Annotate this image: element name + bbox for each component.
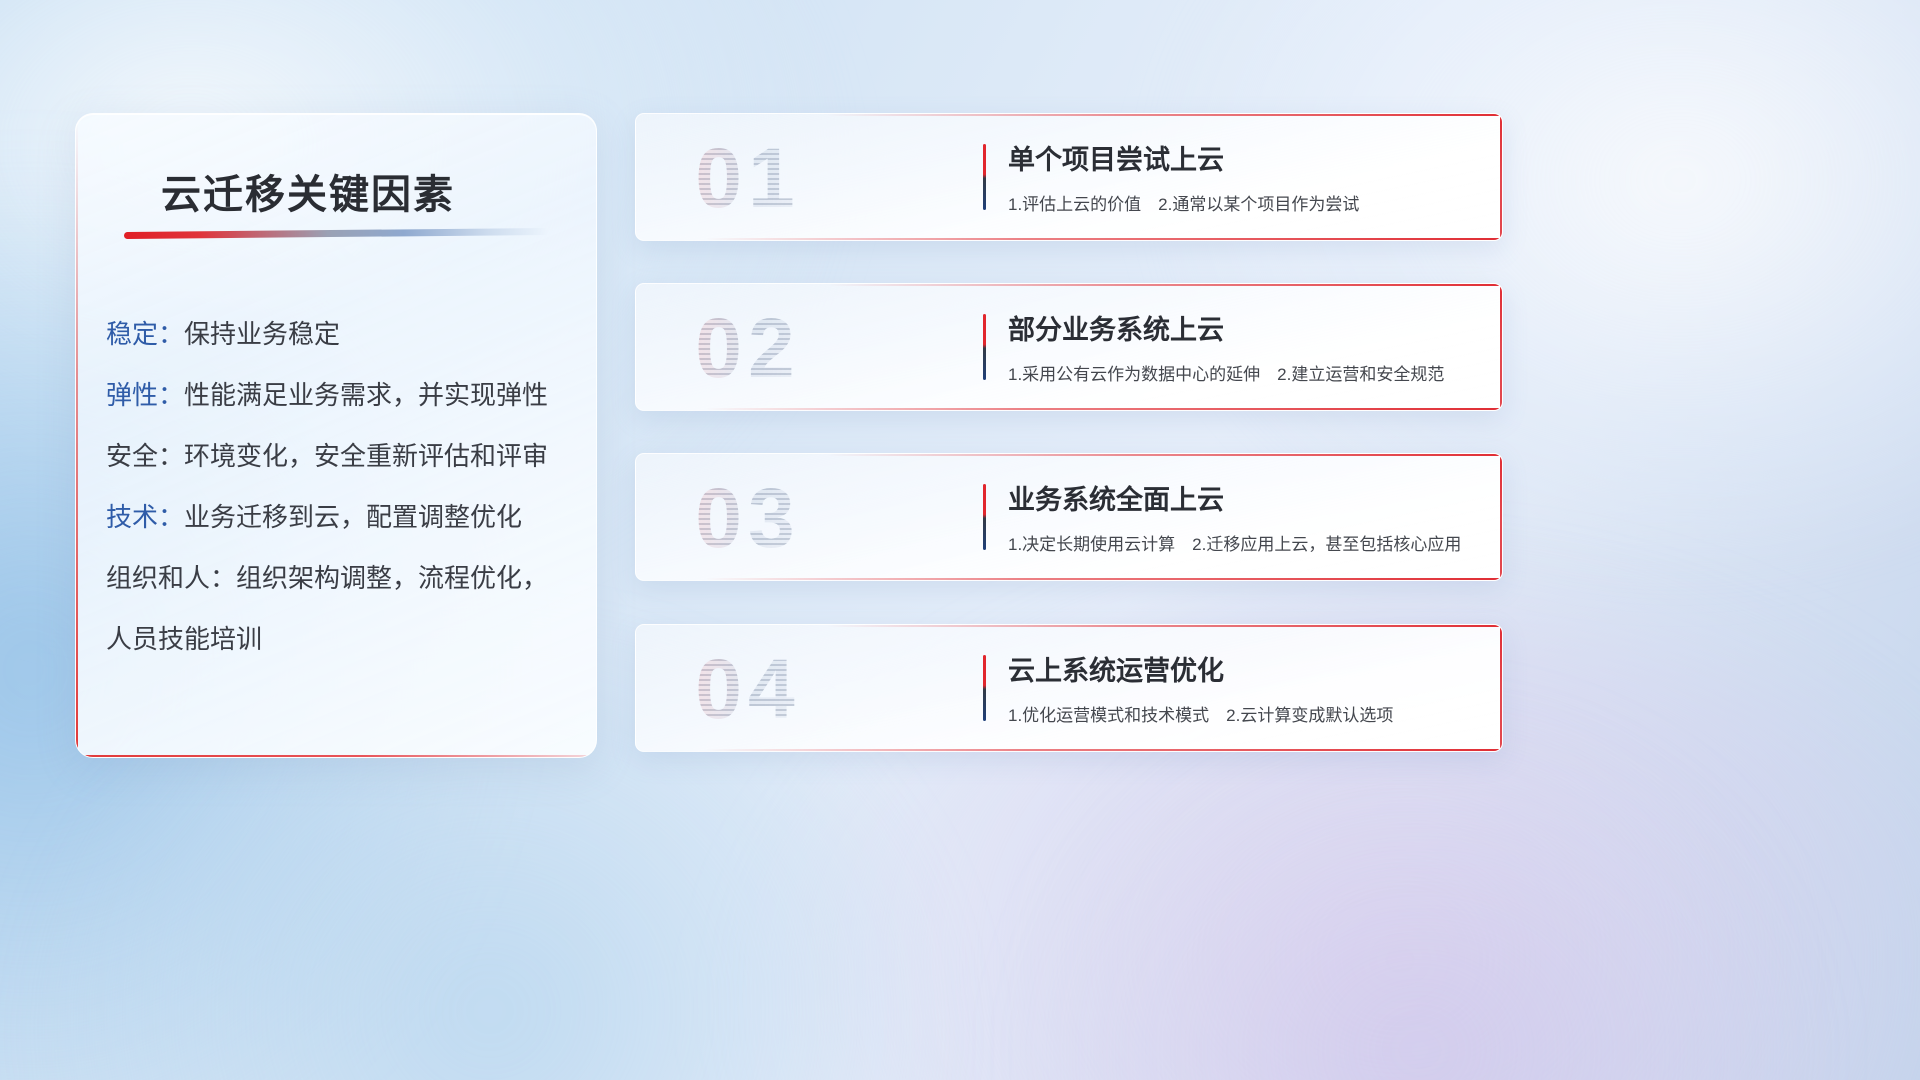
list-item: 稳定：保持业务稳定 (106, 304, 578, 365)
stage-card-04[interactable]: 04 04 云上系统运营优化 1.优化运营模式和技术模式 2.云计算变成默认选项 (635, 624, 1503, 752)
stage-divider-bar (983, 655, 986, 721)
list-item-key: 技术： (106, 502, 184, 532)
stage-divider-bar (983, 144, 986, 210)
stage-title: 云上系统运营优化 (1008, 649, 1224, 688)
list-item-key: 弹性： (106, 380, 184, 410)
card-edge-accent-bottom (705, 238, 1502, 240)
stage-number-watermark-tint: 02 (658, 298, 838, 398)
stage-title: 单个项目尝试上云 (1008, 138, 1224, 177)
list-item: 安全：环境变化，安全重新评估和评审 (106, 426, 578, 487)
card-edge-accent-top (827, 114, 1502, 116)
stage-card-01[interactable]: 01 01 单个项目尝试上云 1.评估上云的价值 2.通常以某个项目作为尝试 (635, 113, 1503, 241)
stage-number-watermark-tint: 03 (658, 468, 838, 568)
list-item-text: 保持业务稳定 (184, 319, 340, 349)
card-edge-accent-right (1500, 625, 1502, 751)
list-item: 弹性：性能满足业务需求，并实现弹性 (106, 365, 578, 426)
key-factors-panel: 云迁移关键因素 稳定：保持业务稳定 弹性：性能满足业务需求，并实现弹性 安全：环… (75, 113, 597, 758)
stage-subtitle: 1.决定长期使用云计算 2.迁移应用上云，甚至包括核心应用 (1008, 530, 1461, 555)
panel-title: 云迁移关键因素 (161, 162, 455, 220)
card-edge-accent-bottom (705, 408, 1502, 410)
stage-card-03[interactable]: 03 03 业务系统全面上云 1.决定长期使用云计算 2.迁移应用上云，甚至包括… (635, 453, 1503, 581)
card-edge-accent-right (1500, 114, 1502, 240)
list-item-text: 人员技能培训 (106, 624, 262, 654)
card-edge-accent-right (1500, 284, 1502, 410)
card-edge-accent-right (1500, 454, 1502, 580)
stage-subtitle: 1.采用公有云作为数据中心的延伸 2.建立运营和安全规范 (1008, 360, 1444, 385)
list-item-text: 业务迁移到云，配置调整优化 (184, 502, 522, 532)
list-item: 组织和人：组织架构调整，流程优化， (106, 548, 578, 609)
stage-divider-bar (983, 484, 986, 550)
card-edge-accent-bottom (705, 749, 1502, 751)
card-edge-accent-bottom (705, 578, 1502, 580)
card-edge-accent-top (827, 454, 1502, 456)
key-factors-list: 稳定：保持业务稳定 弹性：性能满足业务需求，并实现弹性 安全：环境变化，安全重新… (106, 304, 578, 670)
list-item-continuation: 人员技能培训 (106, 609, 578, 670)
list-item-text: 环境变化，安全重新评估和评审 (184, 441, 548, 471)
stage-number-watermark-tint: 04 (658, 639, 838, 739)
list-item-key: 安全： (106, 441, 184, 471)
stage-number-watermark-tint: 01 (658, 128, 838, 228)
stage-subtitle: 1.优化运营模式和技术模式 2.云计算变成默认选项 (1008, 701, 1393, 726)
list-item-key: 组织和人： (106, 563, 236, 593)
stage-divider-bar (983, 314, 986, 380)
card-edge-accent-top (827, 625, 1502, 627)
title-underline-gradient (124, 228, 548, 239)
list-item-key: 稳定： (106, 319, 184, 349)
stage-title: 业务系统全面上云 (1008, 478, 1224, 517)
card-edge-accent-top (827, 284, 1502, 286)
list-item: 技术：业务迁移到云，配置调整优化 (106, 487, 578, 548)
stage-title: 部分业务系统上云 (1008, 308, 1224, 347)
list-item-text: 性能满足业务需求，并实现弹性 (184, 380, 548, 410)
stage-card-02[interactable]: 02 02 部分业务系统上云 1.采用公有云作为数据中心的延伸 2.建立运营和安… (635, 283, 1503, 411)
list-item-text: 组织架构调整，流程优化， (236, 563, 548, 593)
stage-subtitle: 1.评估上云的价值 2.通常以某个项目作为尝试 (1008, 190, 1359, 215)
